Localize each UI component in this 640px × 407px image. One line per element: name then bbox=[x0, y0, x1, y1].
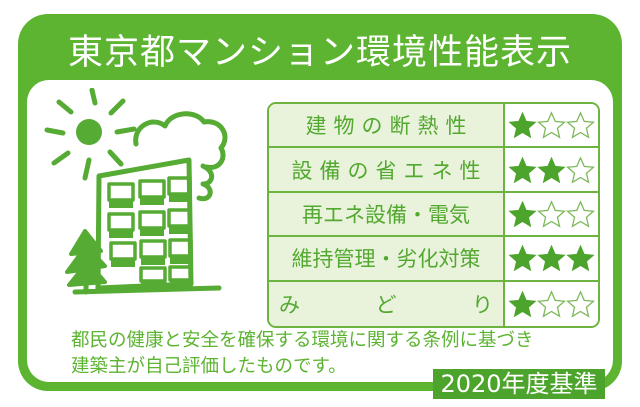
rating-stars-insulation bbox=[505, 104, 598, 146]
greenery-char-2: ど bbox=[376, 289, 397, 319]
table-row: 再エネ設備・電気 bbox=[269, 193, 598, 237]
footer-line-1: 都民の健康と安全を確保する環境に関する条例に基づき bbox=[71, 328, 471, 354]
star-empty-icon bbox=[537, 111, 566, 139]
star-filled-icon bbox=[508, 290, 537, 318]
star-filled-icon bbox=[537, 244, 566, 272]
environmental-performance-label: 東京都マンション環境性能表示 bbox=[18, 14, 622, 391]
table-row: 維持管理・劣化対策 bbox=[269, 237, 598, 281]
greenery-char-1: み bbox=[279, 289, 300, 319]
star-empty-icon bbox=[537, 290, 566, 318]
footer-note: 都民の健康と安全を確保する環境に関する条例に基づき 建築主が自己評価したものです… bbox=[71, 328, 471, 380]
ratings-table: 建物の断熱性 設備の省エネ性 再エネ設備・電気 bbox=[267, 102, 600, 328]
rating-stars-maintenance bbox=[505, 237, 598, 279]
star-filled-icon bbox=[537, 156, 566, 184]
star-empty-icon bbox=[566, 200, 595, 228]
star-filled-icon bbox=[508, 200, 537, 228]
table-row: 建物の断熱性 bbox=[269, 104, 598, 148]
rating-stars-energy-saving bbox=[505, 148, 598, 190]
rating-label-maintenance: 維持管理・劣化対策 bbox=[269, 237, 505, 279]
table-row: 設備の省エネ性 bbox=[269, 148, 598, 192]
star-filled-icon bbox=[508, 156, 537, 184]
rating-label-energy-saving: 設備の省エネ性 bbox=[269, 148, 505, 190]
page-title: 東京都マンション環境性能表示 bbox=[18, 24, 622, 82]
table-row: み ど り bbox=[269, 282, 598, 326]
cloud-icon bbox=[136, 114, 225, 199]
building-windows bbox=[109, 178, 191, 287]
star-empty-icon bbox=[566, 111, 595, 139]
eco-building-illustration bbox=[41, 88, 259, 326]
star-empty-icon bbox=[566, 156, 595, 184]
status-badge: 2020年度基準 bbox=[433, 369, 605, 399]
rating-stars-greenery bbox=[505, 282, 598, 326]
rating-stars-renewable-energy bbox=[505, 193, 598, 235]
greenery-char-3: り bbox=[472, 289, 493, 319]
sun-icon bbox=[47, 90, 134, 178]
star-filled-icon bbox=[508, 244, 537, 272]
rating-label-renewable-energy: 再エネ設備・電気 bbox=[269, 193, 505, 235]
star-filled-icon bbox=[508, 111, 537, 139]
star-empty-icon bbox=[566, 290, 595, 318]
label-body-panel: 建物の断熱性 設備の省エネ性 再エネ設備・電気 bbox=[27, 80, 613, 382]
star-filled-icon bbox=[566, 244, 595, 272]
rating-label-greenery: み ど り bbox=[269, 282, 505, 326]
footer-line-2: 建築主が自己評価したものです。 bbox=[71, 354, 471, 380]
rating-label-insulation: 建物の断熱性 bbox=[269, 104, 505, 146]
star-empty-icon bbox=[537, 200, 566, 228]
